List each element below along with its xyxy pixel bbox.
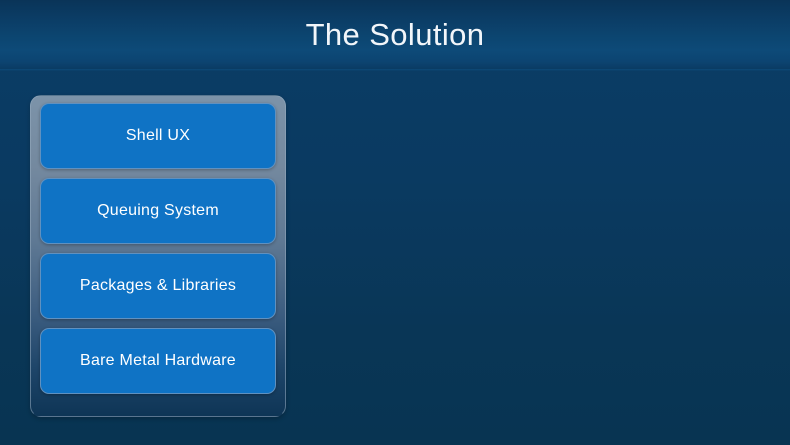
architecture-stack-container: Shell UX Queuing System Packages & Libra…: [30, 95, 286, 417]
stack-layer-bare-metal-hardware[interactable]: Bare Metal Hardware: [40, 328, 276, 394]
page-title: The Solution: [0, 14, 790, 56]
stack-layer-label: Shell UX: [126, 127, 190, 145]
stack-layer-label: Bare Metal Hardware: [80, 352, 236, 370]
stack-layer-label: Queuing System: [97, 202, 219, 220]
stack-layer-shell-ux[interactable]: Shell UX: [40, 103, 276, 169]
presentation-slide: The Solution Shell UX Queuing System Pac…: [0, 0, 790, 445]
stack-layer-label: Packages & Libraries: [80, 277, 236, 295]
header-divider: [0, 69, 790, 71]
stack-layer-packages-libraries[interactable]: Packages & Libraries: [40, 253, 276, 319]
stack-layer-queuing-system[interactable]: Queuing System: [40, 178, 276, 244]
